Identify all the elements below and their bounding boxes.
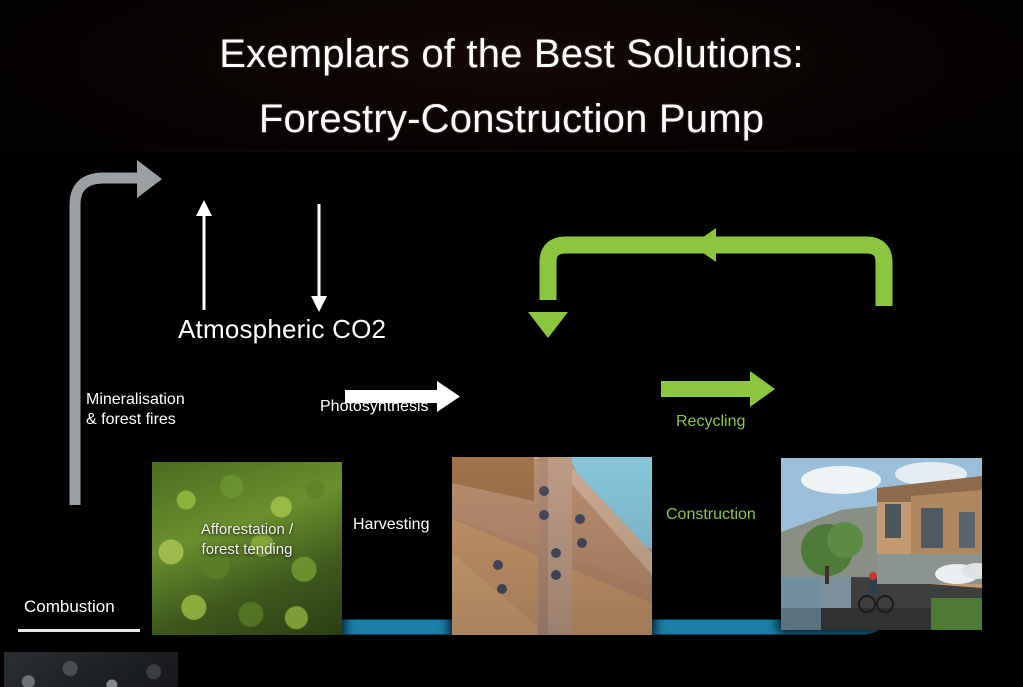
timber-photo-art <box>452 457 652 635</box>
diagram-stage: Afforestation / forest tending <box>0 152 1023 687</box>
combustion-label: Combustion <box>24 596 115 617</box>
mineralisation-label-line1: Mineralisation <box>86 391 185 408</box>
construction-label: Construction <box>666 504 756 525</box>
forest-photo: Afforestation / forest tending <box>152 462 342 635</box>
slide-title-line-2: Forestry-Construction Pump <box>0 97 1023 142</box>
mineralisation-label: Mineralisation & forest fires <box>86 390 236 430</box>
recycling-label: Recycling <box>676 411 745 432</box>
construction-arrow-green <box>661 371 775 407</box>
atmospheric-co2-label: Atmospheric CO2 <box>178 319 386 340</box>
forest-photo-label-line2: forest tending <box>152 540 342 559</box>
harvesting-label: Harvesting <box>353 514 429 535</box>
slide-title-line-1: Exemplars of the Best Solutions: <box>0 32 1023 77</box>
mineralisation-arrow-white <box>196 200 212 310</box>
mineralisation-label-line2: & forest fires <box>86 411 176 428</box>
photosynthesis-arrow-white <box>311 204 327 312</box>
photosynthesis-label: Photosynthesis <box>320 396 429 417</box>
combustion-arrow-grey <box>75 160 162 505</box>
combustion-divider-rule <box>18 629 140 632</box>
built-environment-photo-art <box>781 458 982 630</box>
fossil-energy-photo: Fossil energy sources <box>4 652 178 687</box>
forest-photo-label-line1: Afforestation / <box>152 520 342 539</box>
recycling-arrow-green <box>528 228 884 338</box>
timber-photo: Timber <box>452 457 652 635</box>
slide-canvas: Exemplars of the Best Solutions: Forestr… <box>0 0 1023 687</box>
built-environment-photo: Built environment <box>781 458 982 630</box>
